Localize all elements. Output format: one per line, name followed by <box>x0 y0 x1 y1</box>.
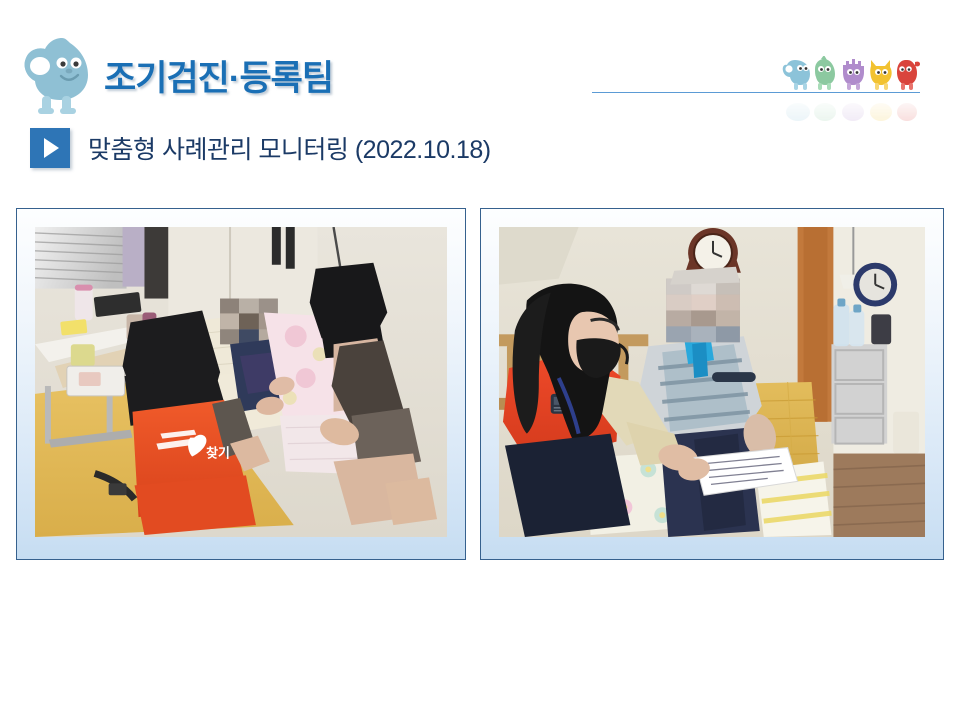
mascot-yellow-icon <box>870 60 891 90</box>
mini-mascot-reflection <box>782 96 920 122</box>
photo-home-visit-document <box>499 227 925 537</box>
header-divider <box>592 92 920 93</box>
second-wall-clock <box>853 263 897 307</box>
subtitle-row: 맞춤형 사례관리 모니터링 (2022.10.18) <box>30 126 491 170</box>
photo-frame-left: 찾기 <box>16 208 466 560</box>
mascot-blue-icon <box>783 60 810 90</box>
photo-frame-right <box>480 208 944 560</box>
slide-header: 조기검진·등록팀 <box>0 0 960 120</box>
mini-mascot-row <box>782 56 920 92</box>
blue-blob-mascot-icon <box>18 34 102 116</box>
subtitle-text: 맞춤형 사례관리 모니터링 (2022.10.18) <box>88 130 491 166</box>
photo-home-visit-bedside: 찾기 <box>35 227 447 537</box>
mascot-purple-icon <box>843 59 864 90</box>
play-triangle-icon <box>30 128 70 168</box>
page-title: 조기검진·등록팀 <box>104 50 333 101</box>
svg-text:찾기: 찾기 <box>206 446 230 461</box>
mascot-red-icon <box>897 60 920 90</box>
slide-footer: I SE O UL U 너와 나의 서울 <box>0 612 960 688</box>
mascot-green-icon <box>815 56 835 90</box>
slide-root: 조기검진·등록팀 <box>0 0 960 720</box>
